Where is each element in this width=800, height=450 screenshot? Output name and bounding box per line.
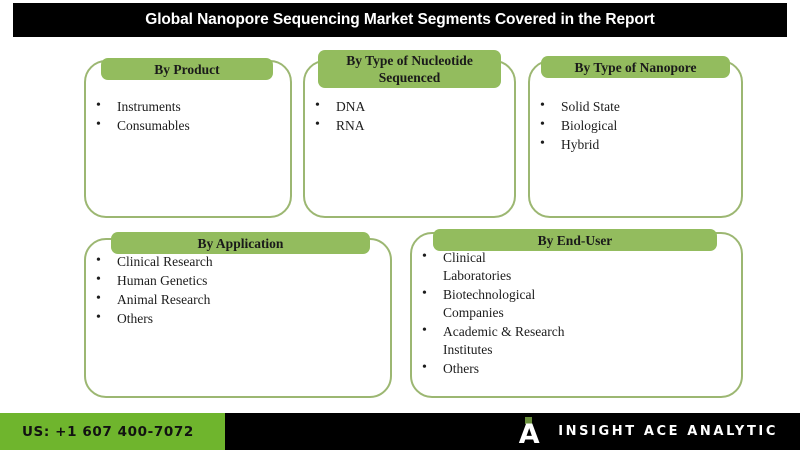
segment-card-title-enduser: By End-User [433, 229, 717, 251]
list-item: Academic & Research Institutes [418, 323, 583, 359]
list-item: Biological [536, 117, 734, 135]
brand-logo: A INSIGHT ACE ANALYTIC [516, 413, 800, 450]
list-item: Solid State [536, 98, 734, 116]
list-item: Consumables [92, 117, 282, 135]
footer-bar: US: +1 607 400-7072 A INSIGHT ACE ANALYT… [0, 413, 800, 450]
segment-list-nanopore: Solid State Biological Hybrid [536, 98, 734, 154]
footer-phone-number[interactable]: US: +1 607 400-7072 [0, 424, 194, 440]
insight-ace-analytic-logo-icon: A [516, 416, 542, 448]
brand-name: INSIGHT ACE ANALYTIC [558, 424, 778, 439]
list-item: Hybrid [536, 136, 734, 154]
segment-card-title-nanopore: By Type of Nanopore [541, 56, 730, 78]
segment-card-title-application: By Application [111, 232, 370, 254]
list-item: RNA [311, 117, 507, 135]
logo-letter-a: A [516, 421, 542, 448]
segment-card-body-enduser: Clinical Laboratories Biotechnological C… [418, 249, 733, 379]
list-item: Clinical Laboratories [418, 249, 548, 285]
list-item: Human Genetics [92, 272, 382, 290]
list-item: Others [92, 310, 382, 328]
segment-card-title-nucleotide: By Type of Nucleotide Sequenced [318, 50, 501, 88]
footer-phone-block: US: +1 607 400-7072 [0, 413, 225, 450]
list-item: Biotechnological Companies [418, 286, 593, 322]
segment-card-body-nanopore: Solid State Biological Hybrid [536, 98, 734, 155]
list-item: Clinical Research [92, 253, 382, 271]
segment-card-product [84, 60, 292, 218]
segment-card-body-application: Clinical Research Human Genetics Animal … [92, 253, 382, 329]
page-title: Global Nanopore Sequencing Market Segmen… [145, 11, 655, 29]
segment-card-title-product: By Product [101, 58, 273, 80]
segment-list-product: Instruments Consumables [92, 98, 282, 135]
report-title-bar: Global Nanopore Sequencing Market Segmen… [13, 3, 787, 37]
segment-list-nucleotide: DNA RNA [311, 98, 507, 135]
footer-spacer [225, 413, 516, 450]
list-item: DNA [311, 98, 507, 116]
list-item: Animal Research [92, 291, 382, 309]
segment-card-body-product: Instruments Consumables [92, 98, 282, 136]
segment-list-enduser: Clinical Laboratories Biotechnological C… [418, 249, 733, 378]
segment-card-body-nucleotide: DNA RNA [311, 98, 507, 136]
list-item: Instruments [92, 98, 282, 116]
segment-list-application: Clinical Research Human Genetics Animal … [92, 253, 382, 328]
list-item: Others [418, 360, 733, 378]
